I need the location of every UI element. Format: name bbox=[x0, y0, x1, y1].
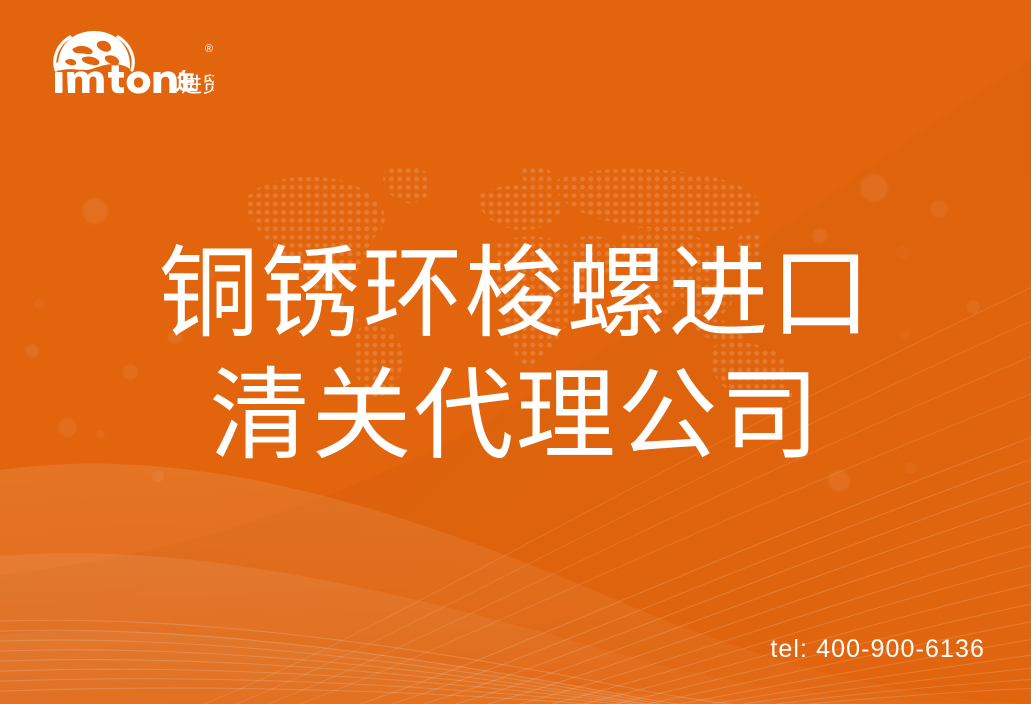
page-title: 铜锈环梭螺进口 清关代理公司 bbox=[0, 233, 1031, 477]
contact-phone[interactable]: tel: 400-900-6136 bbox=[770, 635, 985, 664]
page-title-line-2: 清关代理公司 bbox=[0, 355, 1031, 477]
page-title-line-1: 铜锈环梭螺进口 bbox=[0, 233, 1031, 355]
imton-logo-icon: 进贸通 bbox=[38, 26, 214, 100]
registered-mark-icon: ® bbox=[205, 44, 213, 55]
svg-text:进贸通: 进贸通 bbox=[181, 73, 214, 97]
promo-banner: 进贸通 ® 铜锈环梭螺进口 清关代理公司 tel: 400-900-6136 bbox=[0, 0, 1031, 704]
brand-logo[interactable]: 进贸通 ® bbox=[38, 26, 214, 100]
